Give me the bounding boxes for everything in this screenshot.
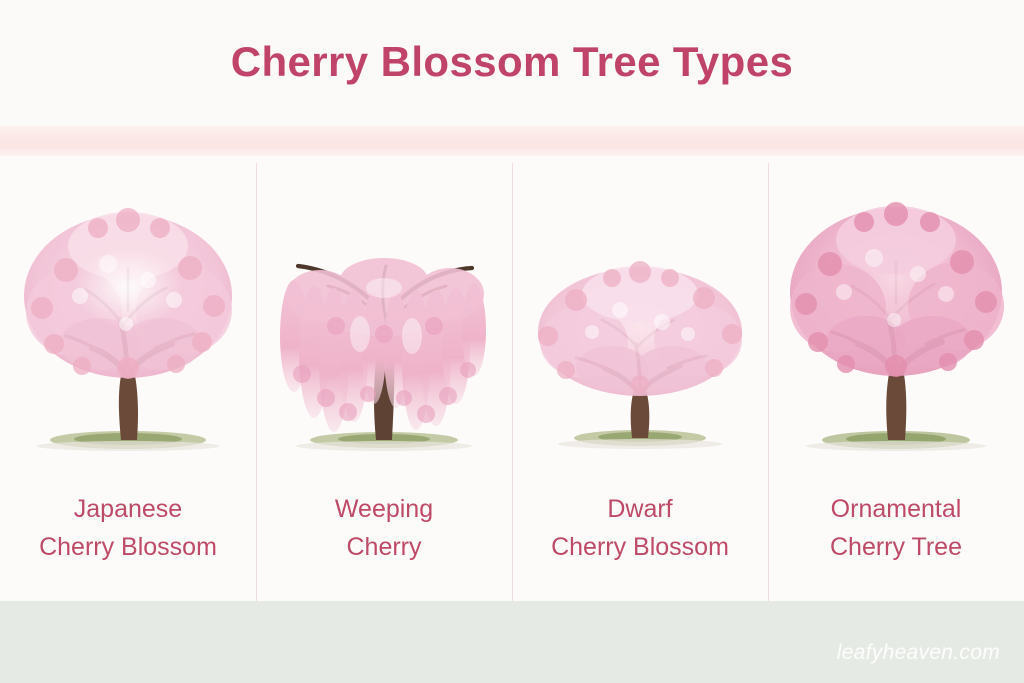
watermark: leafyheaven.com	[837, 641, 1000, 665]
weeping-cherry-tree-icon	[256, 164, 512, 464]
tree-panel-row: Japanese Cherry Blossom	[0, 156, 1024, 601]
panel-label: Ornamental Cherry Tree	[830, 490, 962, 566]
infographic-poster: Cherry Blossom Tree Types	[0, 0, 1024, 683]
panel-label: Weeping Cherry	[335, 490, 433, 566]
tree-panel-ornamental-cherry-tree: Ornamental Cherry Tree	[768, 156, 1024, 601]
footer-band: leafyheaven.com	[0, 601, 1024, 683]
rounded-canopy-cherry-tree-icon	[0, 164, 256, 464]
ornamental-cherry-tree-icon	[768, 164, 1024, 464]
tree-panel-dwarf-cherry-blossom: Dwarf Cherry Blossom	[512, 156, 768, 601]
page-title: Cherry Blossom Tree Types	[0, 38, 1024, 86]
tree-panel-weeping-cherry: Weeping Cherry	[256, 156, 512, 601]
pink-accent-band	[0, 126, 1024, 156]
header-zone: Cherry Blossom Tree Types	[0, 0, 1024, 128]
panel-label: Japanese Cherry Blossom	[39, 490, 217, 566]
dwarf-cherry-tree-icon	[512, 164, 768, 464]
tree-panel-japanese-cherry-blossom: Japanese Cherry Blossom	[0, 156, 256, 601]
panel-label: Dwarf Cherry Blossom	[551, 490, 729, 566]
